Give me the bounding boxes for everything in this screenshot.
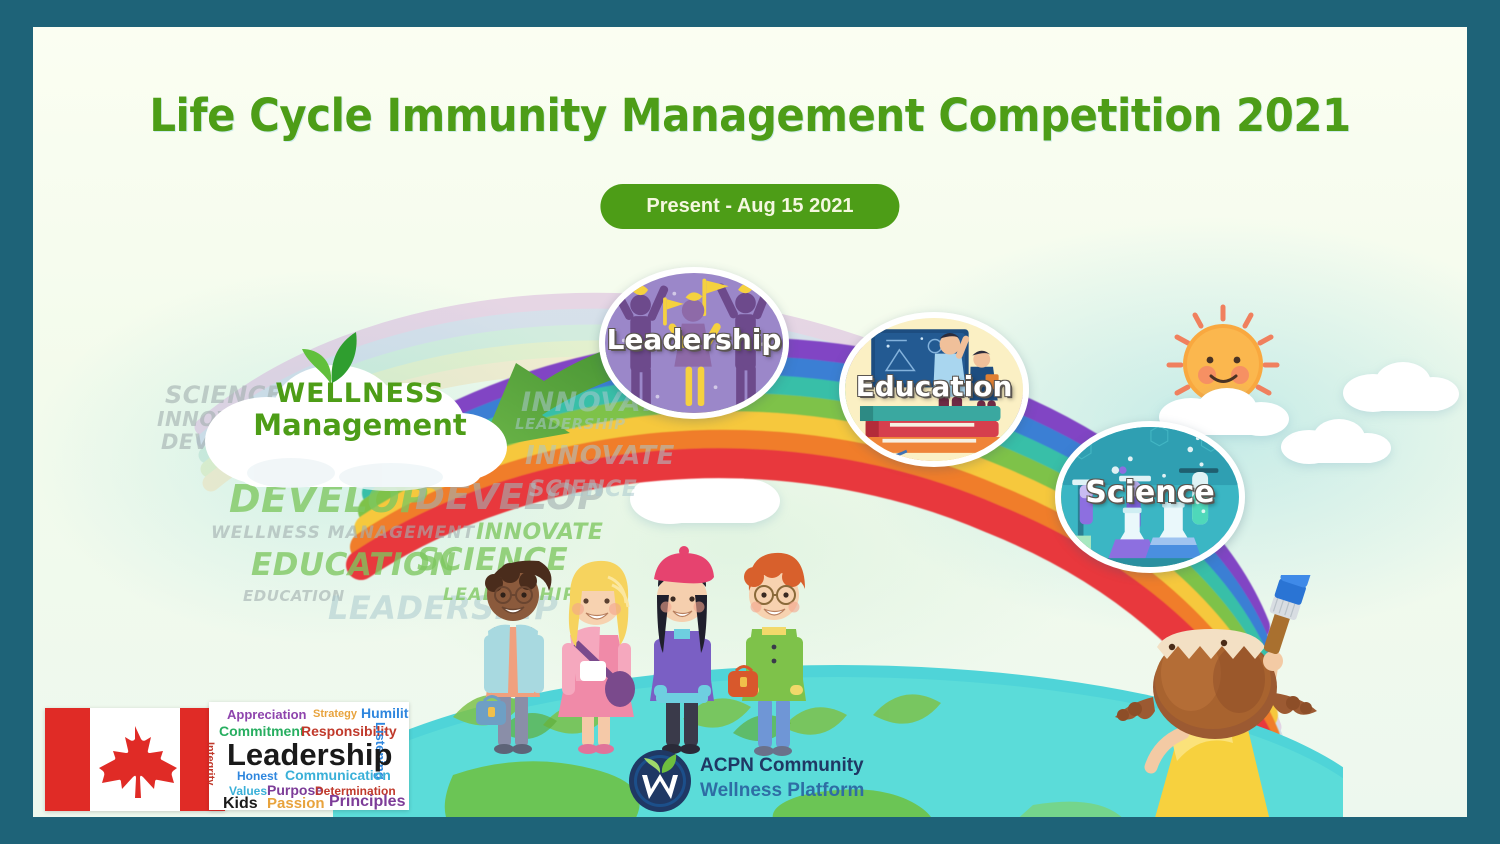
- girl-painting-rainbow-icon: [1073, 575, 1383, 817]
- date-badge[interactable]: Present - Aug 15 2021: [600, 184, 899, 229]
- leaf-sprout-icon: [299, 329, 361, 385]
- leadership-word: Commitment: [219, 724, 305, 738]
- leadership-word: Integrity: [209, 742, 215, 785]
- badge-education[interactable]: Education: [839, 312, 1029, 467]
- leadership-wordcloud-card: AppreciationStrategyHumilityCommitmentRe…: [209, 702, 409, 810]
- leadership-word: Leadership: [227, 739, 392, 770]
- wordcloud-word: WELLNESS MANAGEMENT: [211, 523, 475, 543]
- wellness-management-cloud: WELLNESS Management: [195, 327, 525, 507]
- wellness-label: WELLNESS Management: [195, 379, 525, 442]
- badge-science-label: Science: [1061, 475, 1239, 510]
- leadership-word: Communication: [285, 768, 391, 782]
- wordcloud-word: SCIENCE: [529, 477, 637, 502]
- wellness-line1: WELLNESS: [195, 379, 525, 409]
- leadership-word: Kids: [223, 796, 258, 810]
- badge-science[interactable]: Science: [1055, 421, 1245, 573]
- acpn-logo: ACPN Community Wellness Platform: [628, 749, 968, 813]
- wordcloud-word: INNOVATE: [525, 441, 675, 471]
- poster-canvas: SCIENCE INNOVATE DEVELOP DEVELOP WELLNES…: [33, 27, 1467, 817]
- badge-leadership-label: Leadership: [605, 323, 783, 356]
- acpn-brand-line2: Wellness Platform: [700, 778, 864, 803]
- leadership-word: Humility: [361, 706, 409, 720]
- wellness-line2: Management: [195, 409, 525, 441]
- canada-flag-icon: [45, 708, 225, 811]
- leadership-word: Honest: [237, 770, 278, 782]
- wordcloud-word: LEADERSHIP: [515, 415, 626, 433]
- badge-education-label: Education: [845, 370, 1023, 403]
- leadership-word: Strategy: [313, 709, 357, 720]
- leadership-word: Appreciation: [227, 708, 306, 721]
- acpn-brand-line1: ACPN Community: [700, 753, 864, 778]
- leadership-word: Passion: [267, 796, 325, 810]
- leadership-word: Principles: [329, 794, 405, 810]
- acpn-brand-text: ACPN Community Wellness Platform: [700, 753, 864, 804]
- poster-frame: SCIENCE INNOVATE DEVELOP DEVELOP WELLNES…: [0, 0, 1500, 844]
- page-title: Life Cycle Immunity Management Competiti…: [83, 89, 1417, 142]
- four-children-icon: [458, 543, 848, 765]
- badge-leadership[interactable]: Leadership: [599, 267, 789, 419]
- acpn-w-leaf-logo-icon: [628, 749, 692, 813]
